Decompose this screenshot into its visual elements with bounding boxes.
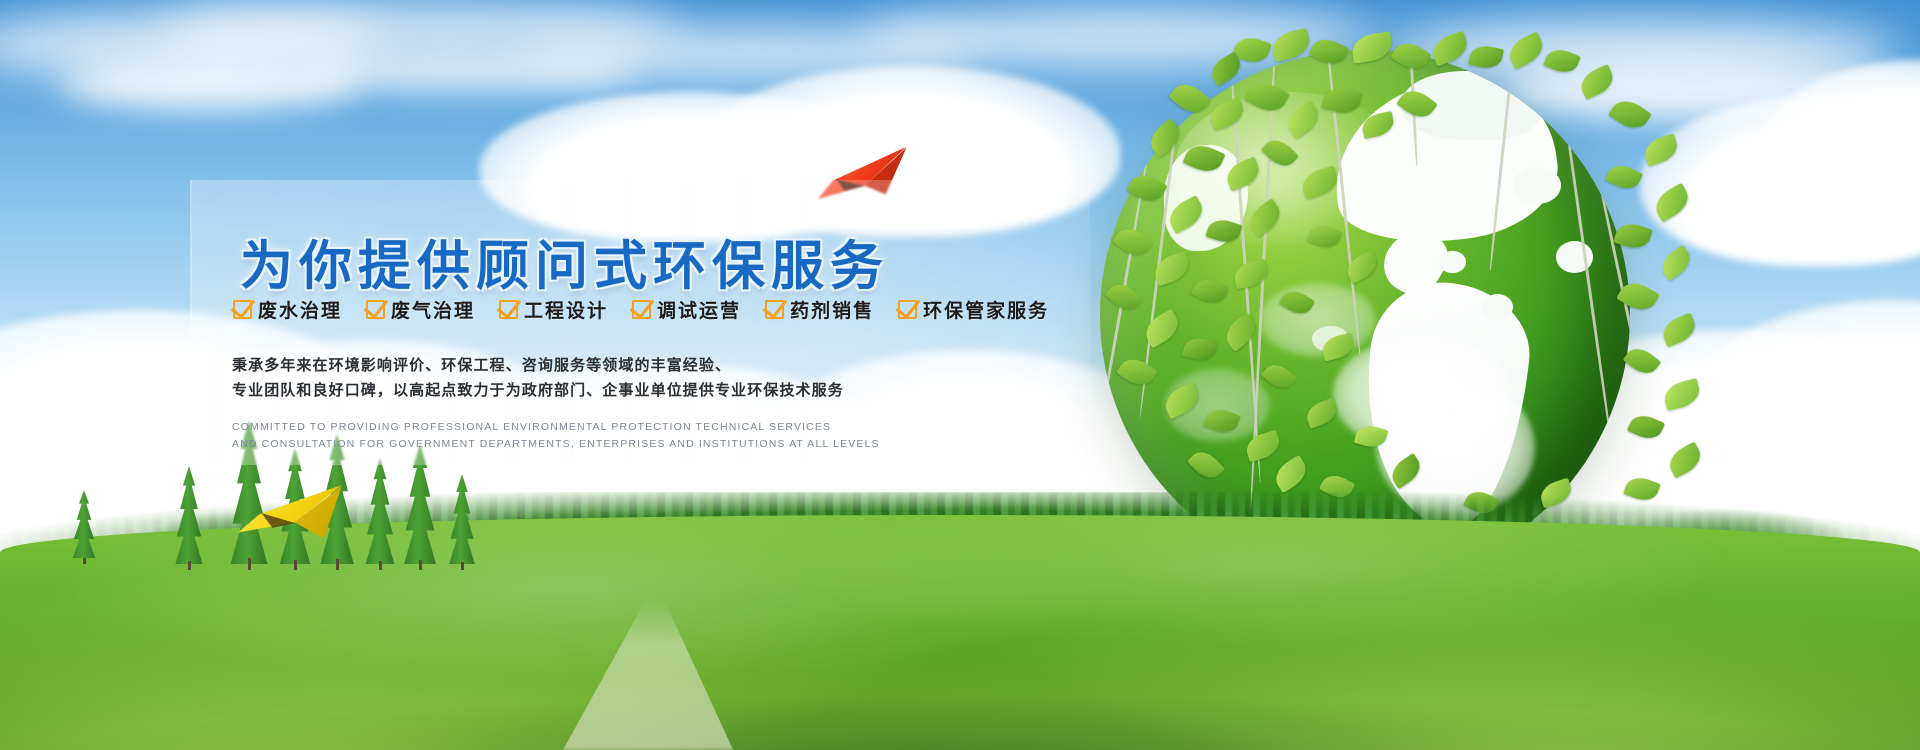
service-item-wastewater[interactable]: 废水治理 <box>233 296 342 323</box>
service-item-env-housekeeper[interactable]: 环保管家服务 <box>898 296 1049 323</box>
service-item-engineering-design[interactable]: 工程设计 <box>499 296 608 323</box>
checkbox-checked-icon <box>233 300 252 319</box>
checkbox-checked-icon <box>898 300 917 319</box>
service-label: 药剂销售 <box>790 296 874 323</box>
service-label: 废水治理 <box>258 296 342 323</box>
description-line-2: 专业团队和良好口碑，以高起点致力于为政府部门、企事业单位提供专业环保技术服务 <box>232 378 844 403</box>
service-label: 废气治理 <box>391 296 475 323</box>
english-line-2: AND CONSULTATION FOR GOVERNMENT DEPARTME… <box>232 436 880 453</box>
service-label: 环保管家服务 <box>923 296 1049 323</box>
service-item-commissioning[interactable]: 调试运营 <box>632 296 741 323</box>
yellow-paper-plane-icon <box>238 475 342 540</box>
service-label: 调试运营 <box>657 296 741 323</box>
service-list: 废水治理 废气治理 工程设计 调试运营 药剂销售 环保管家服务 <box>233 296 1063 323</box>
english-line-1: COMMITTED TO PROVIDING PROFESSIONAL ENVI… <box>232 419 880 436</box>
description-line-1: 秉承多年来在环境影响评价、环保工程、咨询服务等领域的丰富经验、 <box>232 353 844 378</box>
checkbox-checked-icon <box>765 300 784 319</box>
checkbox-checked-icon <box>632 300 651 319</box>
english-subtitle: COMMITTED TO PROVIDING PROFESSIONAL ENVI… <box>232 419 880 453</box>
checkbox-checked-icon <box>499 300 518 319</box>
description-text: 秉承多年来在环境影响评价、环保工程、咨询服务等领域的丰富经验、 专业团队和良好口… <box>232 353 844 403</box>
hero-banner: 为你提供顾问式环保服务 废水治理 废气治理 工程设计 调试运营 药剂销售 环保管… <box>0 0 1920 750</box>
service-item-chemical-sales[interactable]: 药剂销售 <box>765 296 874 323</box>
checkbox-checked-icon <box>366 300 385 319</box>
service-item-waste-gas[interactable]: 废气治理 <box>366 296 475 323</box>
service-label: 工程设计 <box>524 296 608 323</box>
page-title: 为你提供顾问式环保服务 <box>240 224 889 300</box>
